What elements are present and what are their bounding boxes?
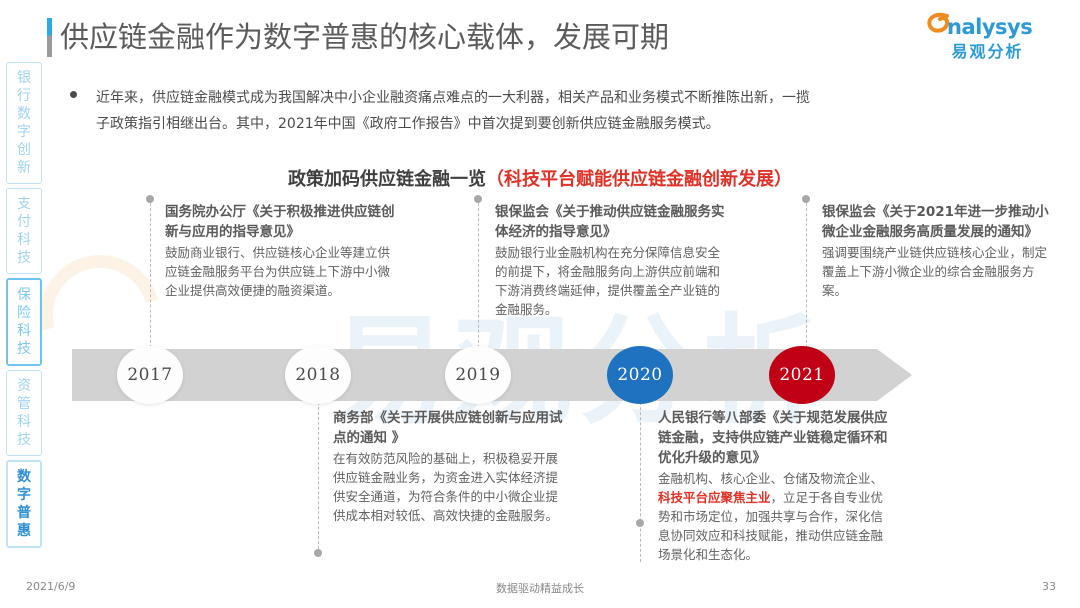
brand-logo: nalysys 易观分析 <box>925 12 1050 64</box>
timeline-year-2017[interactable]: 2017 <box>117 346 183 404</box>
policy-card-2019: 银保监会《关于推动供应链金融服务实体经济的指导意见》 鼓励银行业金融机构在充分保… <box>495 202 727 319</box>
policy-card-2021: 银保监会《关于2021年进一步推动小微企业金融服务高质量发展的通知》 强调要围绕… <box>822 202 1054 300</box>
policy-card-heading: 银保监会《关于2021年进一步推动小微企业金融服务高质量发展的通知》 <box>822 202 1054 242</box>
policy-card-body: 金融机构、核心企业、仓储及物流企业、科技平台应聚焦主业，立足于各自专业优势和市场… <box>658 469 894 564</box>
connector-dot-2021 <box>802 195 810 203</box>
timeline-year-2021[interactable]: 2021 <box>769 346 835 404</box>
policy-card-body: 鼓励银行业金融机构在充分保障信息安全的前提下，将金融服务向上游供应前端和下游消费… <box>495 243 727 319</box>
policy-card-heading: 银保监会《关于推动供应链金融服务实体经济的指导意见》 <box>495 202 727 242</box>
sidebar-label-char: 付 <box>7 213 41 231</box>
logo-chinese-name: 易观分析 <box>925 42 1050 62</box>
sidebar: 银行数字创新 支付科技 保险科技 资管科技 数字普惠 <box>6 62 42 552</box>
sidebar-label-char: 科 <box>7 231 41 249</box>
policy-card-body: 鼓励商业银行、供应链核心企业等建立供应链金融服务平台为供应链上下游中小微企业提供… <box>165 243 395 300</box>
year-label: 2018 <box>295 365 340 385</box>
sidebar-item-label: 银行数字创新 <box>7 69 41 177</box>
sidebar-item-asset-management-tech[interactable]: 资管科技 <box>6 370 42 456</box>
footer: 2021/6/9 数据驱动精益成长 33 <box>0 580 1080 600</box>
policy-body-pre: 金融机构、核心企业、仓储及物流企业、 <box>658 471 883 486</box>
sidebar-item-label: 保险科技 <box>8 286 40 358</box>
footer-slogan: 数据驱动精益成长 <box>0 580 1080 596</box>
connector-2020 <box>640 402 641 562</box>
timeline-year-2020[interactable]: 2020 <box>607 346 673 404</box>
sidebar-item-insurance-tech[interactable]: 保险科技 <box>6 278 42 366</box>
connector-dot-2020 <box>636 519 644 527</box>
timeline-year-2018[interactable]: 2018 <box>285 346 351 404</box>
slide-canvas: 易观分析 供应链金融作为数字普惠的核心载体，发展可期 nalysys 易观分析 … <box>0 0 1080 608</box>
year-label: 2017 <box>127 365 172 385</box>
intro-bullet-line-2: 子政策指引相继出台。其中，2021年中国《政府工作报告》中首次提到要创新供应链金… <box>96 111 1020 137</box>
intro-bullet: 近年来，供应链金融模式成为我国解决中小企业融资痛点难点的一大利器，相关产品和业务… <box>70 85 1020 137</box>
connector-2021 <box>806 198 807 348</box>
sidebar-item-digital-inclusive[interactable]: 数字普惠 <box>6 460 42 548</box>
bullet-dot-icon <box>70 91 77 98</box>
policy-card-2020: 人民银行等八部委《关于规范发展供应链金融，支持供应链产业链稳定循环和优化升级的意… <box>658 408 894 564</box>
footer-page-number: 33 <box>1042 580 1056 593</box>
sidebar-label-char: 科 <box>7 413 41 431</box>
sidebar-label-char: 险 <box>8 304 40 322</box>
sidebar-label-char: 技 <box>7 431 41 449</box>
chart-title: 政策加码供应链金融一览（科技平台赋能供应链金融创新发展） <box>0 165 1080 191</box>
sidebar-label-char: 字 <box>8 486 40 504</box>
timeline-year-2019[interactable]: 2019 <box>445 346 511 404</box>
sidebar-item-label: 数字普惠 <box>8 468 40 540</box>
year-label: 2020 <box>617 365 662 385</box>
sidebar-label-char: 行 <box>7 87 41 105</box>
policy-card-2017: 国务院办公厅《关于积极推进供应链创新与应用的指导意见》 鼓励商业银行、供应链核心… <box>165 202 395 300</box>
sidebar-item-label: 支付科技 <box>7 195 41 267</box>
policy-card-body: 在有效防范风险的基础上，积极稳妥开展供应链金融业务，为资金进入实体经济提供安全通… <box>333 449 567 525</box>
chart-title-highlight: （科技平台赋能供应链金融创新发展） <box>486 169 792 190</box>
sidebar-label-char: 支 <box>7 195 41 213</box>
sidebar-label-char: 数 <box>7 105 41 123</box>
sidebar-label-char: 资 <box>7 377 41 395</box>
chart-title-main: 政策加码供应链金融一览 <box>288 169 486 190</box>
sidebar-label-char: 普 <box>8 504 40 522</box>
sidebar-label-char: 银 <box>7 69 41 87</box>
policy-card-heading: 商务部《关于开展供应链创新与应用试点的通知 》 <box>333 408 567 448</box>
logo-wordmark: nalysys <box>925 12 1050 40</box>
year-label: 2021 <box>779 365 824 385</box>
policy-body-highlight: 科技平台应聚焦主业 <box>658 490 771 505</box>
sidebar-item-payment-tech[interactable]: 支付科技 <box>6 188 42 274</box>
sidebar-item-bank-digital-innovation[interactable]: 银行数字创新 <box>6 62 42 184</box>
connector-2019 <box>478 198 479 348</box>
policy-card-heading: 国务院办公厅《关于积极推进供应链创新与应用的指导意见》 <box>165 202 395 242</box>
connector-2017 <box>150 198 151 348</box>
sidebar-label-char: 保 <box>8 286 40 304</box>
connector-dot-2018 <box>314 549 322 557</box>
sidebar-label-char: 管 <box>7 395 41 413</box>
connector-dot-2019 <box>474 195 482 203</box>
sidebar-label-char: 数 <box>8 468 40 486</box>
sidebar-label-char: 技 <box>8 340 40 358</box>
sidebar-label-char: 技 <box>7 249 41 267</box>
sidebar-label-char: 惠 <box>8 522 40 540</box>
sidebar-label-char: 字 <box>7 123 41 141</box>
intro-bullet-line-1: 近年来，供应链金融模式成为我国解决中小企业融资痛点难点的一大利器，相关产品和业务… <box>96 85 1020 111</box>
sidebar-label-char: 新 <box>7 159 41 177</box>
page-title: 供应链金融作为数字普惠的核心载体，发展可期 <box>60 18 669 56</box>
connector-2018 <box>318 402 319 554</box>
year-label: 2019 <box>455 365 500 385</box>
connector-dot-2017 <box>146 195 154 203</box>
svg-text:nalysys: nalysys <box>947 15 1032 39</box>
sidebar-label-char: 科 <box>8 322 40 340</box>
policy-card-2018: 商务部《关于开展供应链创新与应用试点的通知 》 在有效防范风险的基础上，积极稳妥… <box>333 408 567 525</box>
sidebar-item-label: 资管科技 <box>7 377 41 449</box>
sidebar-label-char: 创 <box>7 141 41 159</box>
title-accent-bar <box>47 18 52 57</box>
policy-card-heading: 人民银行等八部委《关于规范发展供应链金融，支持供应链产业链稳定循环和优化升级的意… <box>658 408 894 468</box>
policy-card-body: 强调要围绕产业链供应链核心企业，制定覆盖上下游小微企业的综合金融服务方案。 <box>822 243 1054 300</box>
